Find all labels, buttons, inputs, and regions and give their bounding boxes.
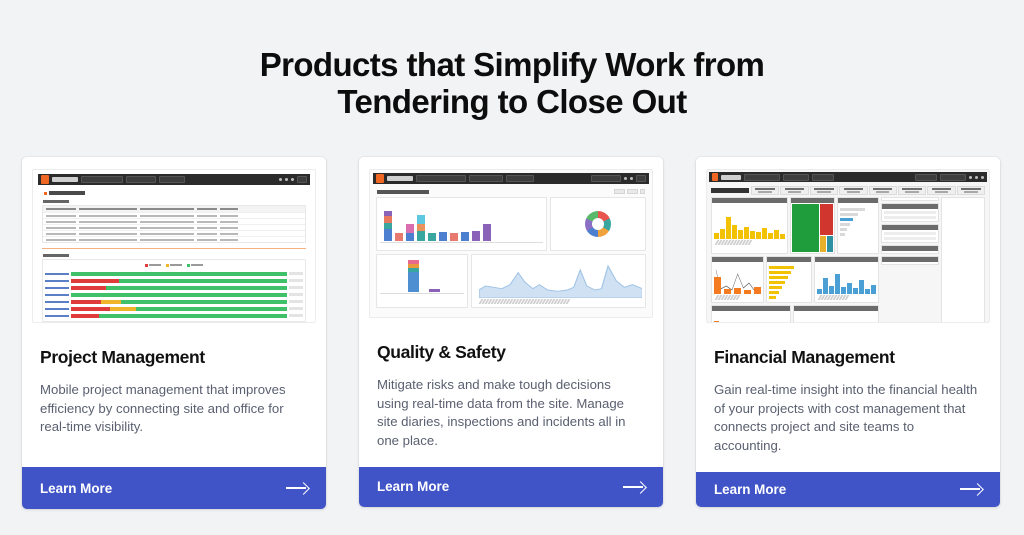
app-topbar bbox=[373, 173, 649, 184]
card-title: Quality & Safety bbox=[377, 342, 645, 363]
card-description: Mitigate risks and make tough decisions … bbox=[377, 376, 645, 451]
user-menu bbox=[940, 174, 966, 181]
bar bbox=[408, 260, 419, 292]
breadcrumb-label bbox=[49, 191, 85, 195]
page-title-line-2: Tendering to Close Out bbox=[0, 84, 1024, 121]
brand-wordmark bbox=[387, 176, 413, 181]
app-topbar bbox=[38, 174, 310, 185]
card-body: Financial Management Gain real-time insi… bbox=[696, 329, 1000, 472]
panel-subcontractor-invoices-vs-payments bbox=[793, 305, 879, 323]
card-body: Quality & Safety Mitigate risks and make… bbox=[359, 324, 663, 467]
horizontal-bar-chart bbox=[840, 205, 876, 236]
bar bbox=[461, 232, 469, 241]
arrow-right-icon bbox=[960, 483, 982, 495]
column-name bbox=[79, 208, 137, 210]
bar bbox=[429, 289, 440, 292]
stacked-bar-chart bbox=[380, 258, 464, 292]
card-preview-image-quality-and-safety bbox=[359, 157, 663, 324]
panel-subcontractor-invoices bbox=[814, 256, 879, 303]
learn-more-label: Learn More bbox=[714, 482, 786, 497]
procore-logo-icon bbox=[41, 175, 49, 184]
search-field bbox=[812, 174, 834, 181]
procore-logo-icon bbox=[712, 173, 718, 181]
brand-wordmark bbox=[721, 175, 741, 180]
dashboard-header bbox=[377, 189, 645, 194]
section-label-project-overview bbox=[43, 254, 69, 257]
bar-chart bbox=[817, 264, 876, 294]
panel-issues-donut bbox=[550, 197, 646, 251]
panel-pos-approved-cos bbox=[837, 197, 879, 254]
legend-next-7-days bbox=[166, 264, 182, 267]
stacked-bar-chart bbox=[380, 201, 543, 241]
account-icon bbox=[981, 176, 984, 179]
page-title-line-1: Products that Simplify Work from bbox=[0, 47, 1024, 84]
bar bbox=[439, 232, 447, 241]
notifications-icon bbox=[624, 177, 627, 180]
more-options-icon[interactable] bbox=[640, 189, 645, 194]
dashboard-title bbox=[377, 190, 429, 194]
project-selector bbox=[416, 175, 466, 182]
table-row bbox=[43, 236, 305, 242]
help-icon bbox=[285, 178, 288, 181]
horizontal-bar-chart bbox=[769, 264, 809, 299]
card-preview-image-financial-management bbox=[696, 157, 1000, 329]
product-card-list: Project Management Mobile project manage… bbox=[22, 157, 1002, 509]
card-preview-image-project-management bbox=[22, 157, 326, 329]
donut-chart bbox=[554, 201, 642, 247]
panel-observation-trends bbox=[471, 254, 646, 308]
area-chart-svg bbox=[479, 258, 642, 298]
gantt-row bbox=[45, 305, 303, 312]
learn-more-label: Learn More bbox=[40, 481, 112, 496]
dashboard-title bbox=[711, 188, 749, 193]
panel-pos-awaiting-contracts bbox=[711, 197, 788, 254]
menu-icon bbox=[297, 176, 307, 183]
bar bbox=[450, 233, 458, 241]
bar-chart bbox=[796, 313, 876, 323]
area-chart bbox=[475, 258, 642, 298]
chart-legend bbox=[45, 262, 303, 268]
search-field bbox=[159, 176, 185, 183]
kpi-tiles bbox=[751, 186, 985, 195]
panel-corrective-records bbox=[376, 254, 468, 308]
tools-selector bbox=[469, 175, 503, 182]
arrow-right-icon bbox=[286, 482, 308, 494]
kpi-tile bbox=[780, 186, 808, 195]
kpi-tile bbox=[869, 186, 897, 195]
panel-stage-donut bbox=[881, 197, 939, 201]
product-card-quality-and-safety[interactable]: Quality & Safety Mitigate risks and make… bbox=[359, 157, 663, 507]
bar-chart bbox=[714, 205, 785, 239]
kpi-tile bbox=[927, 186, 955, 195]
gantt-row bbox=[45, 298, 303, 305]
panel-owner-invoices-vs-payments bbox=[711, 305, 791, 323]
tools-selector bbox=[126, 176, 156, 183]
share-button[interactable] bbox=[614, 189, 625, 194]
procore-logo-icon bbox=[376, 174, 384, 183]
user-menu bbox=[591, 175, 621, 182]
brand-wordmark bbox=[52, 177, 78, 182]
panel-owner-payments bbox=[766, 256, 812, 303]
learn-more-button-quality-and-safety[interactable]: Learn More bbox=[359, 467, 663, 507]
kpi-tile bbox=[898, 186, 926, 195]
learn-more-button-financial-management[interactable]: Learn More bbox=[696, 472, 1000, 507]
filters-panel[interactable] bbox=[941, 197, 985, 323]
gantt-row bbox=[45, 270, 303, 277]
arrow-right-icon bbox=[623, 481, 645, 493]
kpi-tile bbox=[751, 186, 779, 195]
card-title: Financial Management bbox=[714, 347, 982, 368]
legend-plus-7-days bbox=[187, 264, 203, 267]
panel-cos-by-status bbox=[881, 256, 939, 265]
project-selector bbox=[744, 174, 780, 181]
edit-button[interactable] bbox=[627, 189, 638, 194]
gantt-row bbox=[45, 284, 303, 291]
bar bbox=[384, 211, 392, 241]
panel-rfis-gauge bbox=[881, 245, 939, 254]
bullet-icon bbox=[44, 192, 47, 195]
bar bbox=[428, 233, 436, 241]
column-mobile bbox=[220, 208, 238, 210]
notifications-icon bbox=[279, 178, 282, 181]
bar bbox=[406, 224, 414, 241]
panel-owner-invoices bbox=[711, 256, 764, 303]
bar-chart bbox=[714, 313, 788, 323]
column-office bbox=[197, 208, 217, 210]
project-overview-chart bbox=[42, 259, 306, 322]
product-card-financial-management[interactable]: Financial Management Gain real-time insi… bbox=[696, 157, 1000, 507]
gantt-row bbox=[45, 277, 303, 284]
project-home-screenshot bbox=[32, 169, 316, 323]
help-icon bbox=[975, 176, 978, 179]
card-description: Mobile project management that improves … bbox=[40, 381, 308, 437]
legend-overdue bbox=[145, 264, 161, 267]
bar bbox=[472, 231, 480, 241]
project-selector bbox=[81, 176, 123, 183]
x-axis-ticks bbox=[475, 299, 642, 304]
column-email bbox=[140, 208, 194, 210]
panel-pos-by-division bbox=[790, 197, 835, 254]
bar bbox=[395, 233, 403, 241]
panel-owner-list bbox=[881, 224, 939, 243]
dashboard-header bbox=[711, 186, 985, 195]
product-card-project-management[interactable]: Project Management Mobile project manage… bbox=[22, 157, 326, 509]
learn-more-button-project-management[interactable]: Learn More bbox=[22, 467, 326, 509]
kpi-tile bbox=[839, 186, 867, 195]
kpi-tile bbox=[957, 186, 985, 195]
quality-safety-dashboard-screenshot bbox=[369, 169, 653, 318]
learn-more-label: Learn More bbox=[377, 479, 449, 494]
notifications-icon bbox=[969, 176, 972, 179]
card-body: Project Management Mobile project manage… bbox=[22, 329, 326, 467]
line-chart bbox=[714, 264, 761, 294]
panel-incidents-by-location bbox=[376, 197, 547, 251]
column-role bbox=[46, 208, 76, 210]
project-team-table bbox=[42, 205, 306, 243]
kpi-tile bbox=[810, 186, 838, 195]
section-divider bbox=[42, 248, 306, 249]
card-description: Gain real-time insight into the financia… bbox=[714, 381, 982, 456]
card-title: Project Management bbox=[40, 347, 308, 368]
panel-project bbox=[881, 203, 939, 222]
bar bbox=[417, 215, 425, 241]
search-box bbox=[915, 174, 937, 181]
menu-icon bbox=[636, 175, 646, 182]
app-topbar bbox=[709, 172, 987, 182]
gantt-row bbox=[45, 312, 303, 319]
breadcrumb-project-home bbox=[44, 191, 306, 195]
financial-insights-dashboard-screenshot bbox=[706, 169, 990, 323]
help-icon bbox=[630, 177, 633, 180]
page-title: Products that Simplify Work from Tenderi… bbox=[0, 0, 1024, 121]
search-field bbox=[506, 175, 534, 182]
gantt-row bbox=[45, 291, 303, 298]
section-label-project-team bbox=[43, 200, 69, 203]
tools-selector bbox=[783, 174, 809, 181]
account-icon bbox=[291, 178, 294, 181]
dashboard-actions bbox=[614, 189, 645, 194]
treemap-chart bbox=[792, 204, 833, 252]
bar bbox=[483, 224, 491, 241]
products-section: Products that Simplify Work from Tenderi… bbox=[0, 0, 1024, 535]
